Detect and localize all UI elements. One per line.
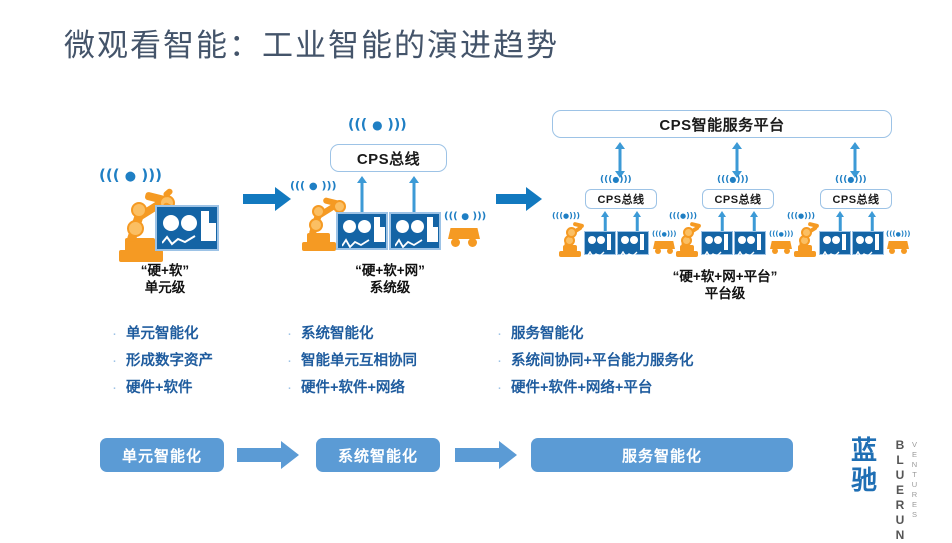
wireless-signal-icon: (((●))) <box>669 212 697 220</box>
wave-icon <box>162 234 196 246</box>
wave-icon <box>342 238 370 248</box>
flow-step-1[interactable]: 单元智能化 <box>100 438 224 472</box>
robot-arm-icon <box>669 222 701 258</box>
stage-system-caption: “硬+软+网” 系统级 <box>300 262 480 296</box>
robot-arm-icon <box>290 196 342 252</box>
agv-cart-icon <box>886 241 910 256</box>
agv-cart-icon <box>446 228 482 250</box>
wireless-signal-icon: (((●))) <box>717 176 749 185</box>
hmi-monitor-icon <box>819 231 851 255</box>
logo-chinese: 蓝 驰 <box>836 436 892 498</box>
hmi-monitor-icon <box>852 231 884 255</box>
bullet-marker-icon: · <box>497 352 511 370</box>
flow-arrow-2 <box>455 441 517 469</box>
stage-platform: CPS智能服务平台 (((●))) CPS总线 (((●))) <box>546 110 892 268</box>
stage-unit: ((( ● ))) <box>95 160 235 270</box>
bullet-column-1: · 单元智能化 · 形成数字资产 · 硬件+软件 <box>112 325 213 406</box>
bullet-marker-icon: · <box>112 379 126 397</box>
bullet-item: · 硬件+软件 <box>112 379 213 397</box>
wireless-signal-icon: (((●))) <box>600 176 632 185</box>
wave-icon <box>737 251 755 258</box>
hmi-monitor-icon <box>734 231 766 255</box>
bullet-marker-icon: · <box>112 352 126 370</box>
wireless-signal-icon: (((●))) <box>552 212 580 220</box>
wave-icon <box>587 251 605 258</box>
stage-system-level: 系统级 <box>300 279 480 296</box>
hmi-monitor-icon <box>617 231 649 255</box>
hmi-monitor-icon <box>389 212 441 250</box>
wave-icon <box>855 251 873 258</box>
bullet-column-2: · 系统智能化 · 智能单元互相协同 · 硬件+软件+网络 <box>287 325 417 406</box>
cps-platform-box[interactable]: CPS智能服务平台 <box>552 110 892 138</box>
bullet-item: · 智能单元互相协同 <box>287 352 417 370</box>
cps-bus-box[interactable]: CPS总线 <box>585 189 657 209</box>
bullet-column-3: · 服务智能化 · 系统间协同+平台能力服务化 · 硬件+软件+网络+平台 <box>497 325 693 406</box>
slide-canvas: 微观看智能：工业智能的演进趋势 ((( ● ))) <box>0 0 952 516</box>
bullet-marker-icon: · <box>497 325 511 343</box>
stage-unit-caption: “硬+软” 单元级 <box>90 262 240 296</box>
logo-cn-line2: 驰 <box>836 466 892 496</box>
wave-icon <box>704 251 722 258</box>
bullet-marker-icon: · <box>287 325 301 343</box>
platform-to-bus-arrow <box>849 142 861 178</box>
hmi-monitor-icon <box>701 231 733 255</box>
transition-arrow-1 <box>243 194 276 204</box>
stage-platform-caption: “硬+软+网+平台” 平台级 <box>620 268 830 302</box>
stage-platform-level: 平台级 <box>620 285 830 302</box>
hmi-monitor-icon <box>584 231 616 255</box>
stage-platform-quoted: “硬+软+网+平台” <box>620 268 830 285</box>
brand-logo: 蓝 驰 BLUERUN VENTURES <box>836 436 932 498</box>
hmi-monitor-icon <box>336 212 388 250</box>
bullet-item: · 服务智能化 <box>497 325 693 343</box>
logo-english: BLUERUN <box>894 438 905 543</box>
flow-arrow-1 <box>237 441 299 469</box>
bullet-marker-icon: · <box>497 379 511 397</box>
platform-to-bus-arrow <box>731 142 743 178</box>
bullet-item: · 系统间协同+平台能力服务化 <box>497 352 693 370</box>
wave-icon <box>620 251 638 258</box>
stage-system: ((( ● ))) CPS总线 ((( ● ))) <box>290 118 490 268</box>
wave-icon <box>822 251 840 258</box>
wireless-signal-icon: (((●))) <box>787 212 815 220</box>
stage-system-quoted: “硬+软+网” <box>300 262 480 279</box>
wave-icon <box>395 238 423 248</box>
wireless-signal-icon: ((( ● ))) <box>444 212 486 222</box>
bullet-marker-icon: · <box>287 379 301 397</box>
hmi-monitor-icon <box>155 205 219 251</box>
flow-step-3[interactable]: 服务智能化 <box>531 438 793 472</box>
robot-arm-icon <box>552 222 584 258</box>
flow-step-2[interactable]: 系统智能化 <box>316 438 440 472</box>
wireless-signal-icon: ((( ● ))) <box>290 180 337 192</box>
bullet-item: · 硬件+软件+网络+平台 <box>497 379 693 397</box>
logo-english-sub: VENTURES <box>910 440 919 520</box>
cps-bus-box[interactable]: CPS总线 <box>330 144 447 172</box>
robot-arm-icon <box>787 222 819 258</box>
bullet-marker-icon: · <box>112 325 126 343</box>
stage-unit-level: 单元级 <box>90 279 240 296</box>
bullet-item: · 硬件+软件+网络 <box>287 379 417 397</box>
bullet-item: · 形成数字资产 <box>112 352 213 370</box>
transition-arrow-2 <box>496 194 527 204</box>
bullet-item: · 单元智能化 <box>112 325 213 343</box>
bullet-item: · 系统智能化 <box>287 325 417 343</box>
logo-cn-line1: 蓝 <box>836 436 892 466</box>
platform-to-bus-arrow <box>614 142 626 178</box>
wireless-signal-icon: ((( ● ))) <box>99 168 162 183</box>
wireless-signal-icon: (((●))) <box>886 231 910 238</box>
bullet-marker-icon: · <box>287 352 301 370</box>
wireless-signal-icon: ((( ● ))) <box>348 118 407 132</box>
cps-bus-box[interactable]: CPS总线 <box>820 189 892 209</box>
wireless-signal-icon: (((●))) <box>835 176 867 185</box>
page-title: 微观看智能：工业智能的演进趋势 <box>64 20 559 65</box>
stage-unit-quoted: “硬+软” <box>90 262 240 279</box>
cps-bus-box[interactable]: CPS总线 <box>702 189 774 209</box>
